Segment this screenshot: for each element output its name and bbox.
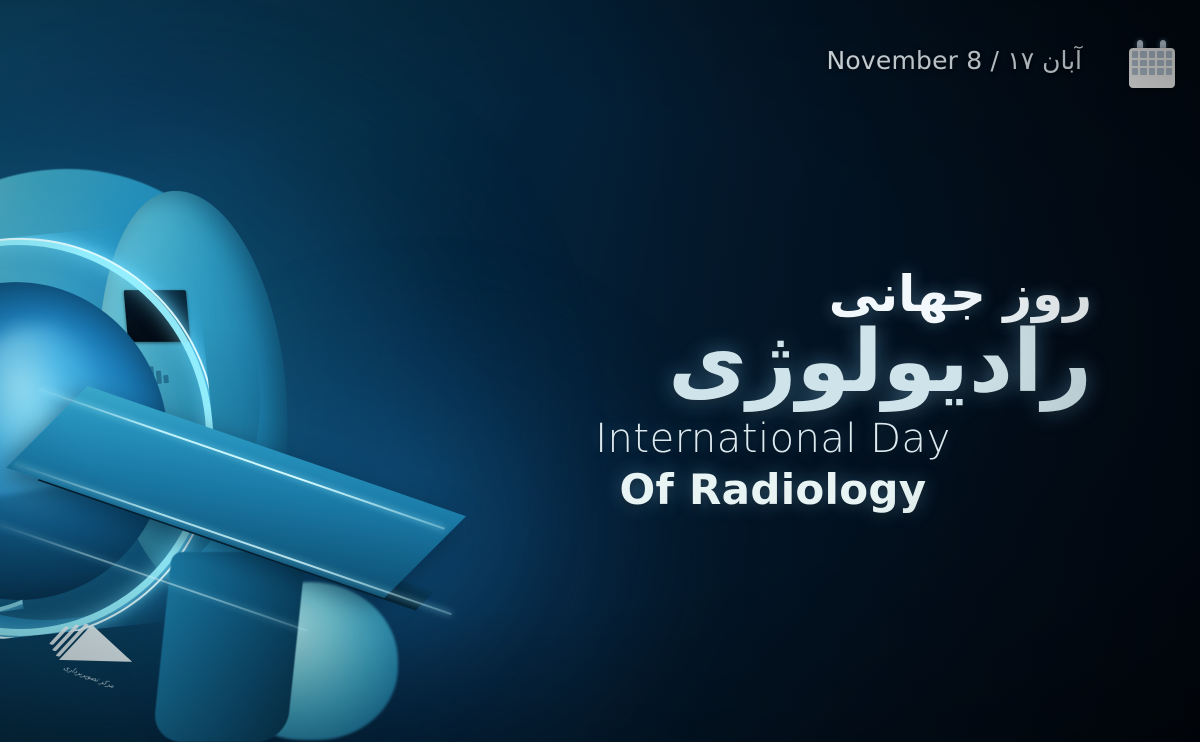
headline-english-line2: Of Radiology (472, 465, 1074, 515)
calendar-icon (1126, 40, 1178, 90)
date-text: November 8 / آبان ۱۷ (826, 46, 1082, 75)
calendar-day-grid (1129, 48, 1175, 78)
calendar-frame (1129, 48, 1175, 88)
mri-scanner-illustration: مرکز تصویربرداری (0, 140, 450, 740)
poster-canvas: مرکز تصویربرداری November 8 / آبان ۱۷ رو… (0, 0, 1200, 742)
headline-persian-line2: رادیولوژی (472, 319, 1092, 405)
headline-block: روز جهانی رادیولوژی International Day Of… (472, 268, 1092, 514)
headline-english-block: International Day Of Radiology (472, 417, 1092, 515)
date-badge: November 8 / آبان ۱۷ (826, 46, 1082, 75)
headline-english-line1: International Day (472, 417, 1074, 461)
